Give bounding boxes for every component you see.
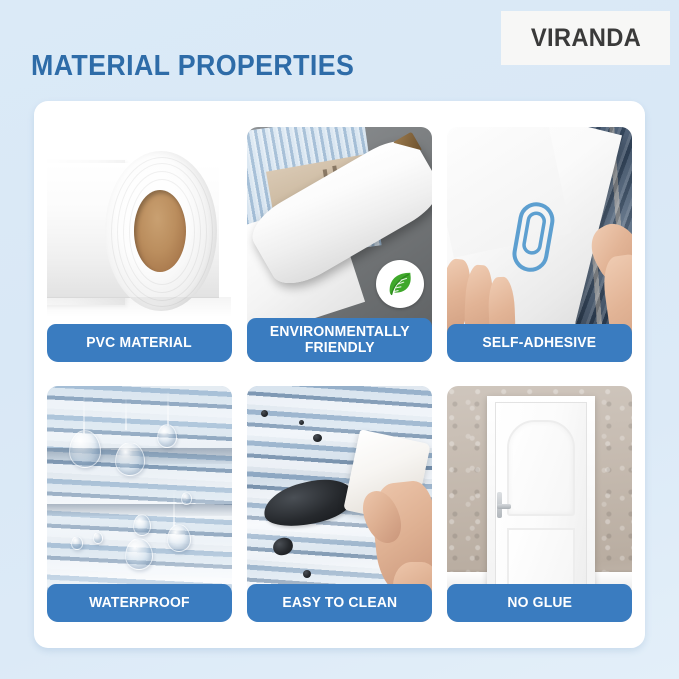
- feature-card-waterproof[interactable]: WATERPROOF: [47, 386, 232, 622]
- feature-label-text: EASY TO CLEAN: [282, 595, 397, 611]
- feature-card-pvc-material[interactable]: PVC MATERIAL: [47, 127, 232, 362]
- header: MATERIAL PROPERTIES VIRANDA: [0, 0, 679, 100]
- feature-card-self-adhesive[interactable]: SELF-ADHESIVE: [447, 127, 632, 362]
- feature-label-self-adhesive: SELF-ADHESIVE: [447, 324, 632, 362]
- brand-name: VIRANDA: [530, 24, 640, 53]
- feature-label-waterproof: WATERPROOF: [47, 584, 232, 622]
- feature-label-text: PVC MATERIAL: [87, 335, 193, 351]
- feature-grid: PVC MATERIAL ENVIRONMENTALLY FRIENDLY: [47, 127, 632, 622]
- feature-label-easy-to-clean: EASY TO CLEAN: [247, 584, 432, 622]
- feature-card-no-glue[interactable]: NO GLUE: [447, 386, 632, 622]
- feature-label-text: WATERPROOF: [89, 595, 190, 611]
- feature-label-environmentally-friendly: ENVIRONMENTALLY FRIENDLY: [247, 318, 432, 362]
- brand-logo-box: VIRANDA: [501, 11, 670, 65]
- leaf-icon: [376, 260, 424, 308]
- feature-card-easy-to-clean[interactable]: EASY TO CLEAN: [247, 386, 432, 622]
- feature-label-pvc-material: PVC MATERIAL: [47, 324, 232, 362]
- feature-label-no-glue: NO GLUE: [447, 584, 632, 622]
- feature-card-environmentally-friendly[interactable]: ENVIRONMENTALLY FRIENDLY: [247, 127, 432, 362]
- feature-label-text-line1: ENVIRONMENTALLY: [270, 324, 410, 340]
- page-title: MATERIAL PROPERTIES: [31, 50, 354, 83]
- feature-label-text-line2: FRIENDLY: [270, 340, 410, 356]
- door-handle: [497, 504, 511, 509]
- feature-label-text: SELF-ADHESIVE: [483, 335, 597, 351]
- feature-label-text: NO GLUE: [507, 595, 572, 611]
